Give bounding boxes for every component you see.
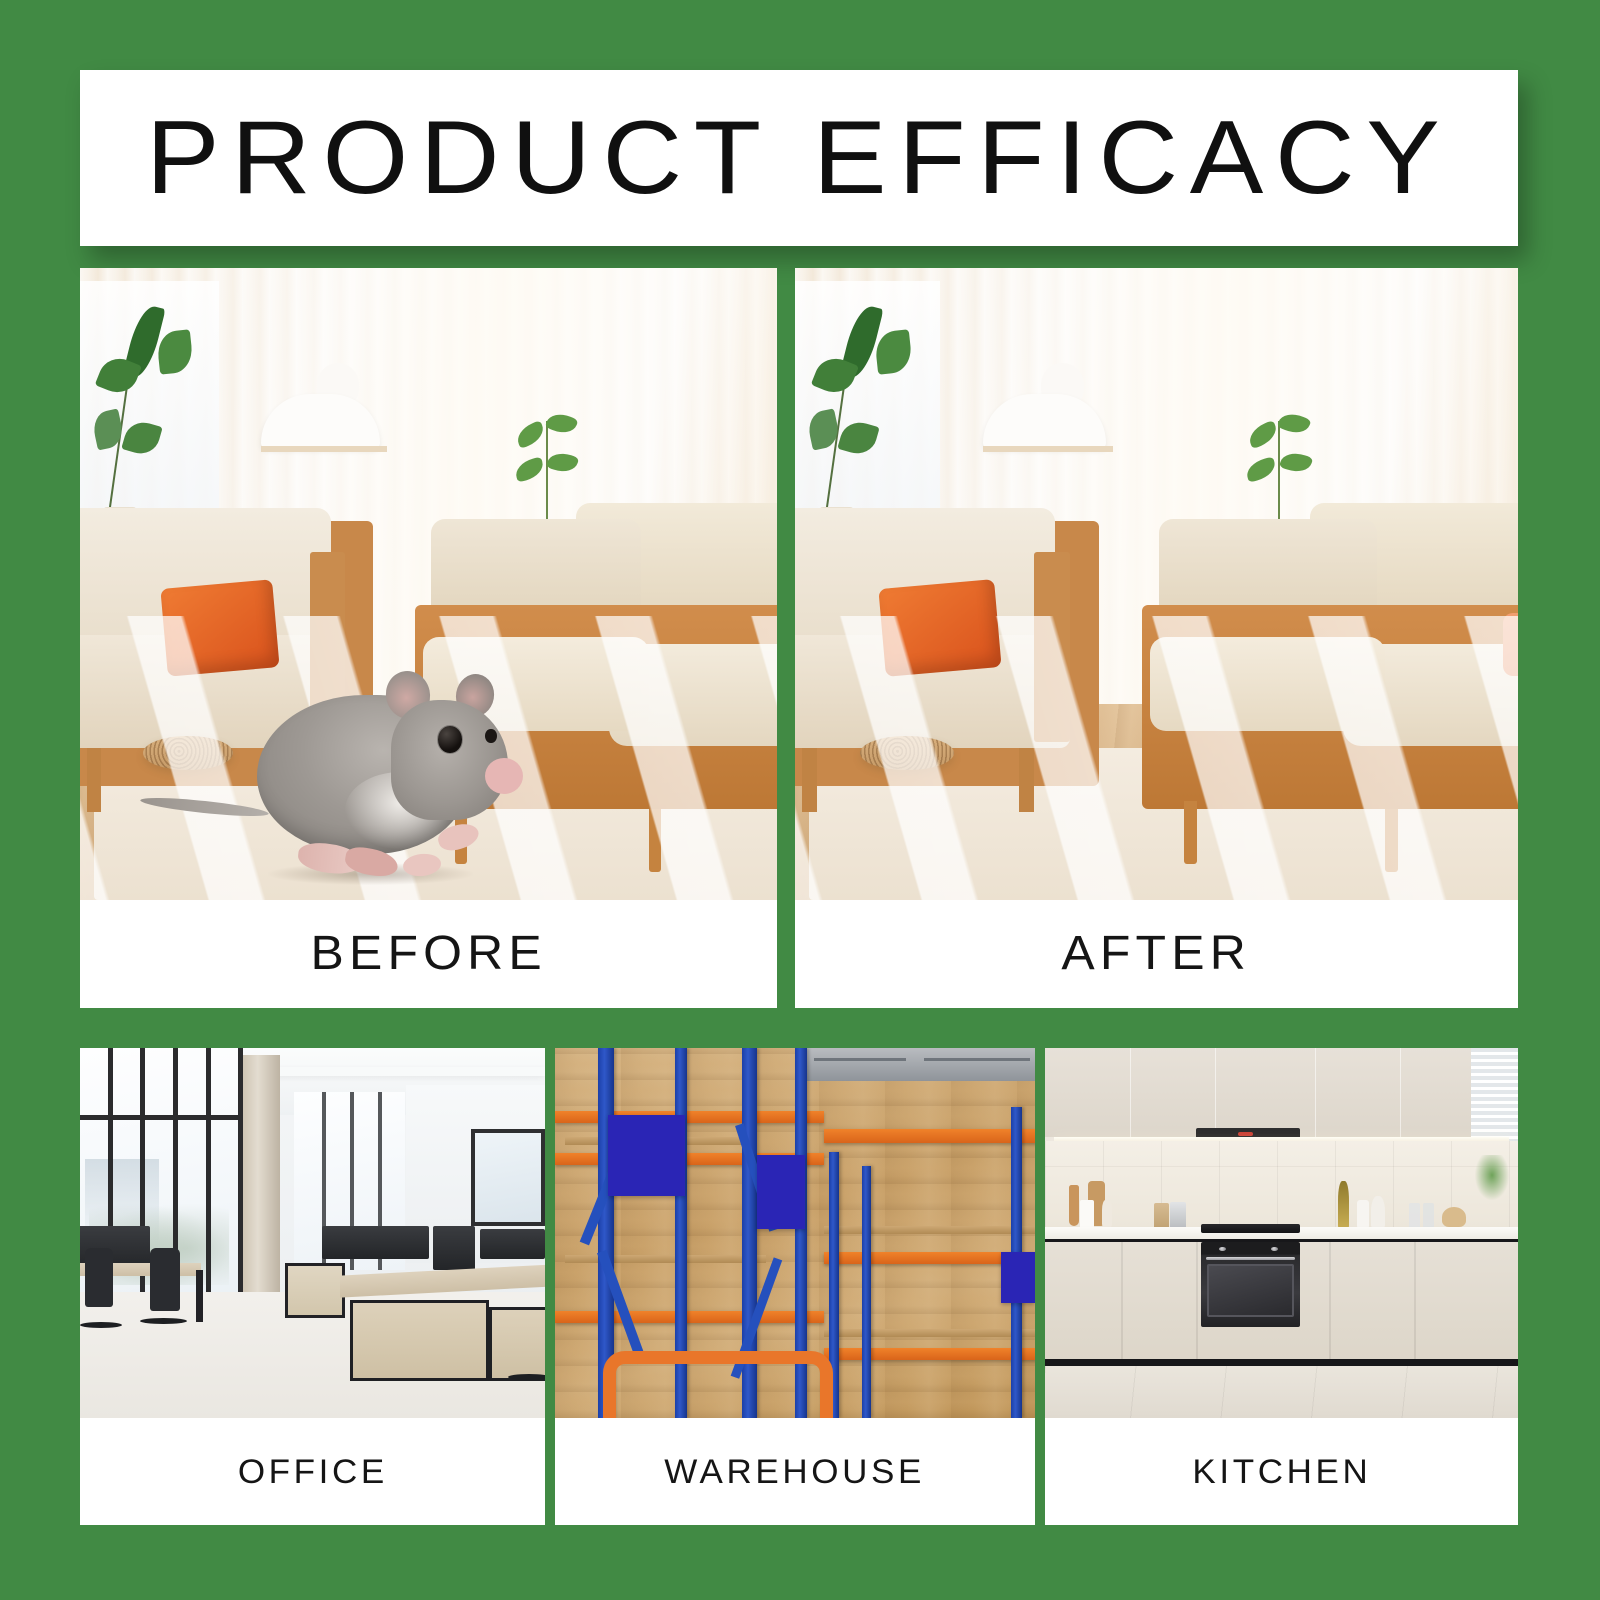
rodent-eye: [485, 729, 497, 743]
kitchen-scene: [1045, 1048, 1518, 1418]
armchair-leg: [802, 748, 816, 811]
monitor: [433, 1226, 475, 1270]
warehouse-caption: WAREHOUSE: [555, 1418, 1035, 1525]
rack-beam: [824, 1348, 1035, 1360]
rodent-eye: [438, 726, 461, 752]
dispenser: [1371, 1196, 1384, 1229]
comparison-card-before: BEFORE: [80, 268, 777, 1008]
rack-sign: [1001, 1252, 1035, 1304]
orange-accent-pillow: [1503, 613, 1518, 676]
pallet: [565, 1255, 767, 1263]
cooktop: [1201, 1224, 1300, 1233]
rack-beam: [555, 1311, 824, 1323]
monitor: [373, 1226, 429, 1259]
armchair-arm: [1034, 552, 1070, 742]
sofa-leg: [1184, 801, 1197, 864]
rodent-head: [391, 700, 508, 820]
dispenser: [1357, 1200, 1369, 1230]
sofa-seat-cushion: [1150, 637, 1385, 731]
oven-knob: [1271, 1247, 1278, 1251]
orange-pillow: [878, 579, 1001, 677]
glass-container: [1423, 1203, 1433, 1229]
office-chair: [150, 1248, 180, 1311]
window-plant: [1475, 1155, 1508, 1199]
comparison-card-after: AFTER: [795, 268, 1518, 1008]
warehouse-label: WAREHOUSE: [665, 1455, 926, 1489]
built-in-oven: [1201, 1242, 1300, 1327]
storage-jar: [1154, 1203, 1169, 1229]
monitor: [480, 1229, 545, 1259]
rodent-pest: [233, 647, 526, 887]
roof-beam: [814, 1058, 906, 1061]
window-transom: [80, 1115, 243, 1120]
after-photo: [795, 268, 1518, 900]
office-scene: [80, 1048, 545, 1418]
upper-cabinets: [1045, 1048, 1518, 1137]
safety-guard-rail: [603, 1351, 833, 1418]
living-room-scene-before: [80, 268, 777, 900]
rack-sign: [608, 1115, 685, 1196]
vase: [1102, 1200, 1112, 1230]
warehouse-roof: [805, 1048, 1035, 1081]
oven-glass-door: [1207, 1264, 1294, 1317]
after-caption: AFTER: [795, 900, 1518, 1008]
office-caption: OFFICE: [80, 1418, 545, 1525]
chair-base: [80, 1322, 122, 1328]
corner-window: [471, 1129, 545, 1225]
paper-towel-roll: [1080, 1200, 1093, 1230]
warehouse-photo: [555, 1048, 1035, 1418]
right-sofa: [1142, 496, 1518, 888]
use-case-card-warehouse: WAREHOUSE: [555, 1048, 1035, 1525]
armchair-leg: [1019, 748, 1033, 811]
desk-leg: [196, 1270, 203, 1322]
warehouse-scene: [555, 1048, 1035, 1418]
rack-sign: [757, 1155, 805, 1229]
wooden-bowl: [1442, 1207, 1466, 1227]
before-label: BEFORE: [310, 930, 546, 978]
after-label: AFTER: [1062, 930, 1252, 978]
sofa-leg: [1385, 809, 1398, 872]
page-title: PRODUCT EFFICACY: [146, 106, 1451, 210]
armchair-leg: [87, 748, 101, 811]
tile-floor: [1045, 1366, 1518, 1418]
storage-jar: [1170, 1202, 1186, 1230]
chair-base: [508, 1374, 545, 1380]
use-case-card-office: OFFICE: [80, 1048, 545, 1525]
office-photo: [80, 1048, 545, 1418]
desk-privacy-panel: [285, 1263, 345, 1319]
oil-bottle: [1338, 1181, 1348, 1229]
living-room-scene-after: [795, 268, 1518, 900]
before-caption: BEFORE: [80, 900, 777, 1008]
window-mullion: [206, 1048, 211, 1314]
structural-column: [243, 1055, 280, 1307]
oven-handle: [1206, 1257, 1295, 1260]
office-chair: [85, 1248, 113, 1307]
office-label: OFFICE: [237, 1455, 387, 1489]
pallet: [824, 1329, 1035, 1337]
rack-beam: [824, 1129, 1035, 1142]
title-banner: PRODUCT EFFICACY: [80, 70, 1518, 246]
kitchen-caption: KITCHEN: [1045, 1418, 1518, 1525]
before-photo: [80, 268, 777, 900]
monitor: [322, 1226, 378, 1259]
kitchen-photo: [1045, 1048, 1518, 1418]
glass-container: [1409, 1203, 1419, 1229]
pallet: [824, 1226, 1035, 1234]
sofa-leg: [649, 809, 661, 872]
woven-floor-mat: [860, 736, 954, 771]
rack-upright: [862, 1166, 871, 1418]
roof-beam: [924, 1058, 1030, 1061]
rack-beam: [555, 1111, 824, 1124]
oven-knob: [1219, 1247, 1226, 1251]
kitchen-label: KITCHEN: [1192, 1455, 1371, 1489]
use-case-card-kitchen: KITCHEN: [1045, 1048, 1518, 1525]
desk-cabinet: [489, 1307, 545, 1381]
desk-cabinet: [350, 1300, 490, 1381]
cutting-board: [1069, 1185, 1079, 1226]
rodent-snout: [485, 758, 523, 794]
